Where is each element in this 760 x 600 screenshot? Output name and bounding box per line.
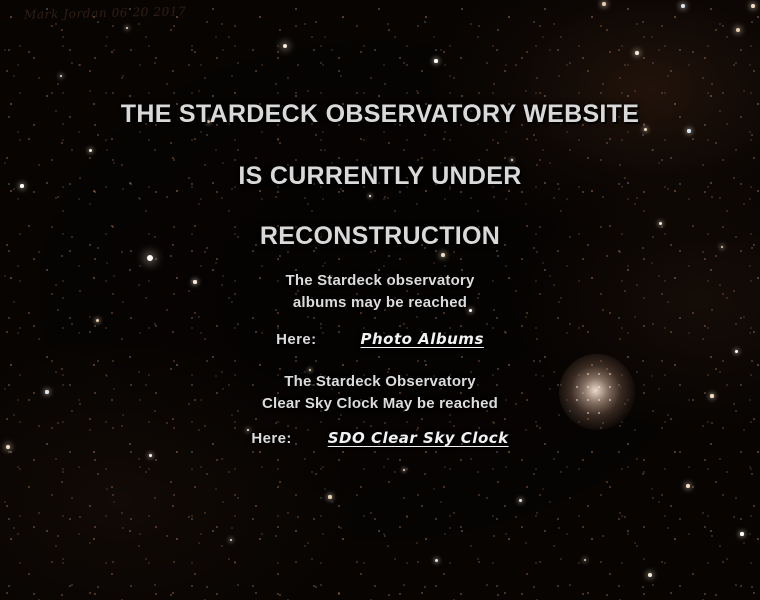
here-label-albums: Here: <box>276 331 316 348</box>
albums-description: The Stardeck observatory albums may be r… <box>0 270 760 314</box>
clear-sky-clock-link-row: Here: SDO Clear Sky Clock <box>0 429 760 447</box>
page-title-line-3: RECONSTRUCTION <box>0 222 760 251</box>
page-title-line-1: THE STARDECK OBSERVATORY WEBSITE <box>0 100 760 129</box>
page-root: Mark Jordan 06 20 2017 THE STARDECK OBSE… <box>0 0 760 600</box>
clear-sky-clock-description: The Stardeck Observatory Clear Sky Clock… <box>0 371 760 415</box>
clear-sky-clock-description-line-2: Clear Sky Clock May be reached <box>262 395 498 412</box>
here-label-clock: Here: <box>251 430 291 447</box>
albums-description-line-2: albums may be reached <box>293 294 467 311</box>
sdo-clear-sky-clock-link[interactable]: SDO Clear Sky Clock <box>328 429 509 447</box>
photo-albums-link-row: Here: Photo Albums <box>0 330 760 348</box>
photo-albums-link[interactable]: Photo Albums <box>360 330 483 348</box>
content-area: THE STARDECK OBSERVATORY WEBSITE IS CURR… <box>0 0 760 600</box>
albums-description-line-1: The Stardeck observatory <box>285 272 474 289</box>
page-title-line-2: IS CURRENTLY UNDER <box>0 162 760 191</box>
clear-sky-clock-description-line-1: The Stardeck Observatory <box>284 373 476 390</box>
